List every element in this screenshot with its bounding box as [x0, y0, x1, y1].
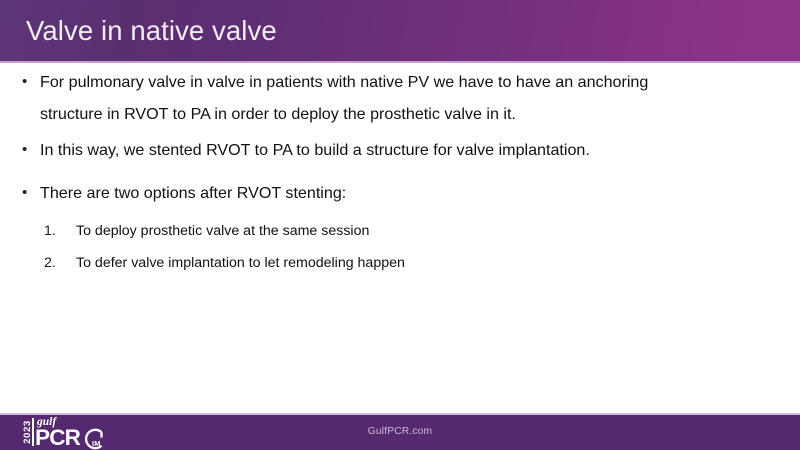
- numbered-list-item-label: To defer valve implantation to let remod…: [76, 254, 800, 272]
- numbered-list-item: 2. To defer valve implantation to let re…: [0, 254, 800, 272]
- list-item-label: For pulmonary valve in valve in patients…: [40, 72, 800, 92]
- bullet-dot-icon: •: [22, 72, 27, 92]
- footer-website-url: GulfPCR.com: [0, 425, 800, 439]
- numbered-list-marker: 1.: [44, 222, 66, 240]
- slide: Valve in native valve • For pulmonary va…: [0, 0, 800, 450]
- logo-pcr-wordmark: PCR: [35, 426, 80, 449]
- list-item-label: In this way, we stented RVOT to PA to bu…: [40, 140, 800, 160]
- bullet-dot-icon: •: [22, 140, 27, 160]
- list-item: • In this way, we stented RVOT to PA to …: [0, 140, 800, 160]
- numbered-list-marker: 2.: [44, 254, 66, 272]
- logo-divider: [32, 418, 34, 446]
- list-item-label: structure in RVOT to PA in order to depl…: [40, 104, 800, 124]
- header-underline: [0, 61, 800, 63]
- gulf-pcr-logo: 2023 gulf PCR IM: [14, 414, 114, 450]
- logo-im-suffix: IM: [92, 440, 101, 448]
- list-item-continuation: structure in RVOT to PA in order to depl…: [0, 104, 800, 124]
- list-item: • For pulmonary valve in valve in patien…: [0, 72, 800, 92]
- list-item: • There are two options after RVOT stent…: [0, 183, 800, 203]
- bullet-dot-icon: •: [22, 183, 27, 203]
- list-item-label: There are two options after RVOT stentin…: [40, 183, 800, 203]
- numbered-list-item-label: To deploy prosthetic valve at the same s…: [76, 222, 800, 240]
- page-title: Valve in native valve: [26, 14, 277, 48]
- numbered-list-item: 1. To deploy prosthetic valve at the sam…: [0, 222, 800, 240]
